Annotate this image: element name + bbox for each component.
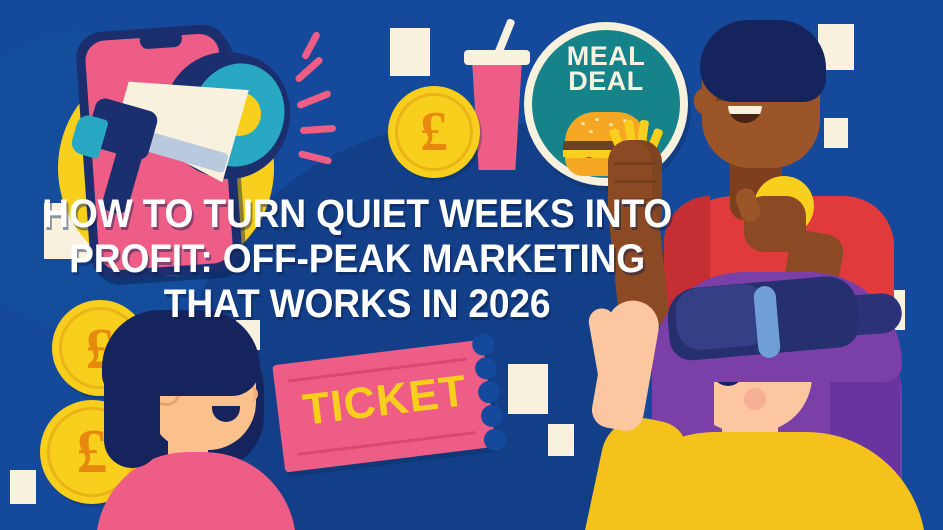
man-hair (700, 20, 826, 102)
headline-line-1: HOW TO TURN QUIET WEEKS INTO (0, 192, 714, 237)
headline-line-3: THAT WORKS IN 2026 (0, 282, 714, 327)
megaphone-sound-line (300, 125, 336, 134)
drink-cup-lid (464, 50, 530, 65)
sparkle-icon (10, 470, 36, 504)
sparkle-icon (390, 28, 430, 76)
megaphone-sound-line (298, 150, 333, 165)
sparkle-icon (508, 364, 548, 414)
megaphone-sound-line (294, 56, 324, 84)
page-title: HOW TO TURN QUIET WEEKS INTO PROFIT: OFF… (0, 192, 714, 327)
sparkle-icon (824, 118, 848, 148)
badge-line-2: DEAL (532, 69, 680, 94)
megaphone-sound-line (296, 90, 332, 110)
meal-deal-badge-text: MEAL DEAL (532, 44, 680, 94)
headline-line-2: PROFIT: OFF-PEAK MARKETING (0, 237, 714, 282)
sparkle-icon (548, 424, 574, 456)
banner-canvas: MEAL DEAL £ £ £ (0, 0, 943, 530)
coin-pound-symbol: £ (388, 86, 480, 178)
coin-icon: £ (388, 86, 480, 178)
vr-woman-cheek (744, 388, 766, 410)
